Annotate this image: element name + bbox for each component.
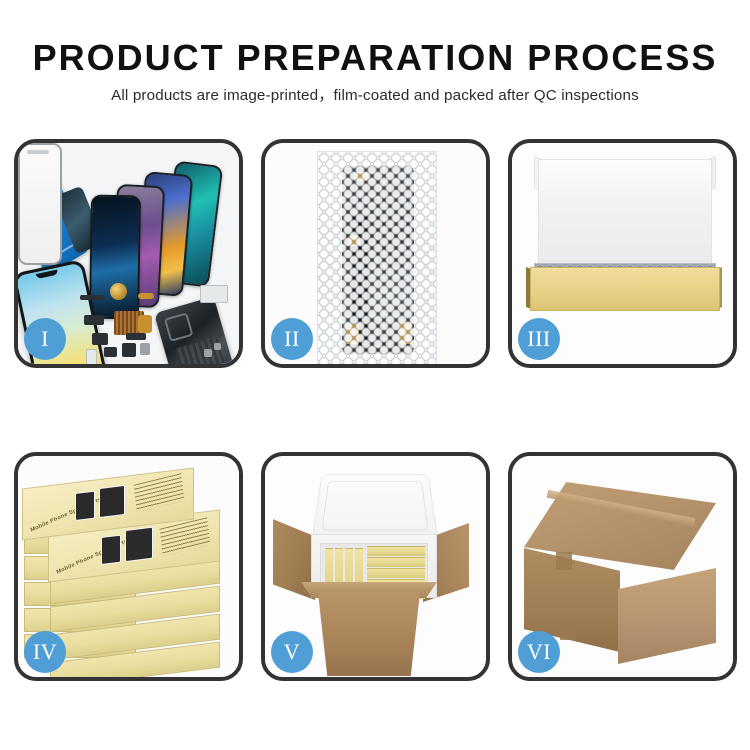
- box-lid: [538, 159, 712, 273]
- carton-tape-upper: [556, 552, 572, 570]
- part-strip: [80, 295, 104, 300]
- step-badge-6: VI: [518, 631, 560, 673]
- inner-yellow-box: [367, 568, 425, 578]
- part-speaker: [122, 343, 136, 357]
- yellow-box-body: [530, 267, 720, 311]
- carton-front: [311, 592, 427, 676]
- process-step-panel-3[interactable]: III: [508, 139, 737, 368]
- step-badge-1: I: [24, 318, 66, 360]
- part-screw-2: [214, 343, 221, 350]
- foam-lid: [311, 474, 438, 539]
- process-step-panel-4[interactable]: Mobile Phone Spare Parts Mobile Phone Sp…: [14, 452, 243, 681]
- box-artwork-screen: [101, 535, 121, 565]
- part-bracket: [84, 315, 104, 325]
- page-subtitle: All products are image-printed，film-coat…: [0, 86, 750, 106]
- page-title: PRODUCT PREPARATION PROCESS: [0, 38, 750, 78]
- process-step-panel-1[interactable]: I: [14, 139, 243, 368]
- part-button: [140, 343, 150, 355]
- part-sim-tray: [86, 349, 97, 364]
- step-badge-2: II: [271, 318, 313, 360]
- box-artwork-screen: [75, 491, 95, 521]
- phone-darkblue-graphic: [89, 195, 141, 320]
- part-shield: [126, 333, 146, 340]
- carton-tape-lower: [560, 624, 576, 640]
- part-flex-cable: [138, 293, 154, 299]
- step-badge-3: III: [518, 318, 560, 360]
- inner-yellow-box: [367, 546, 425, 556]
- box-artwork-screen: [125, 527, 153, 562]
- part-camera-ring: [110, 283, 127, 300]
- part-module: [92, 333, 108, 345]
- box-artwork-screen: [99, 485, 125, 518]
- foam-cavity: [320, 543, 428, 587]
- box-spec-lines: [133, 473, 184, 512]
- process-step-panel-2[interactable]: II: [261, 139, 490, 368]
- bubble-wrap-bag: [317, 151, 437, 364]
- part-flex-strip: [138, 315, 152, 333]
- part-tool: [200, 285, 228, 303]
- page-header: PRODUCT PREPARATION PROCESS All products…: [0, 0, 750, 106]
- step-badge-4: IV: [24, 631, 66, 673]
- inner-yellow-box: [367, 557, 425, 567]
- box-spec-lines: [159, 517, 210, 556]
- process-step-panel-5[interactable]: V: [261, 452, 490, 681]
- bubble-texture: [318, 152, 436, 364]
- process-step-panel-6[interactable]: VI: [508, 452, 737, 681]
- step-badge-5: V: [271, 631, 313, 673]
- screen-protector-graphic: [18, 143, 62, 265]
- part-connector: [104, 347, 117, 357]
- part-screw: [204, 349, 212, 357]
- process-step-grid: I II III: [14, 139, 736, 681]
